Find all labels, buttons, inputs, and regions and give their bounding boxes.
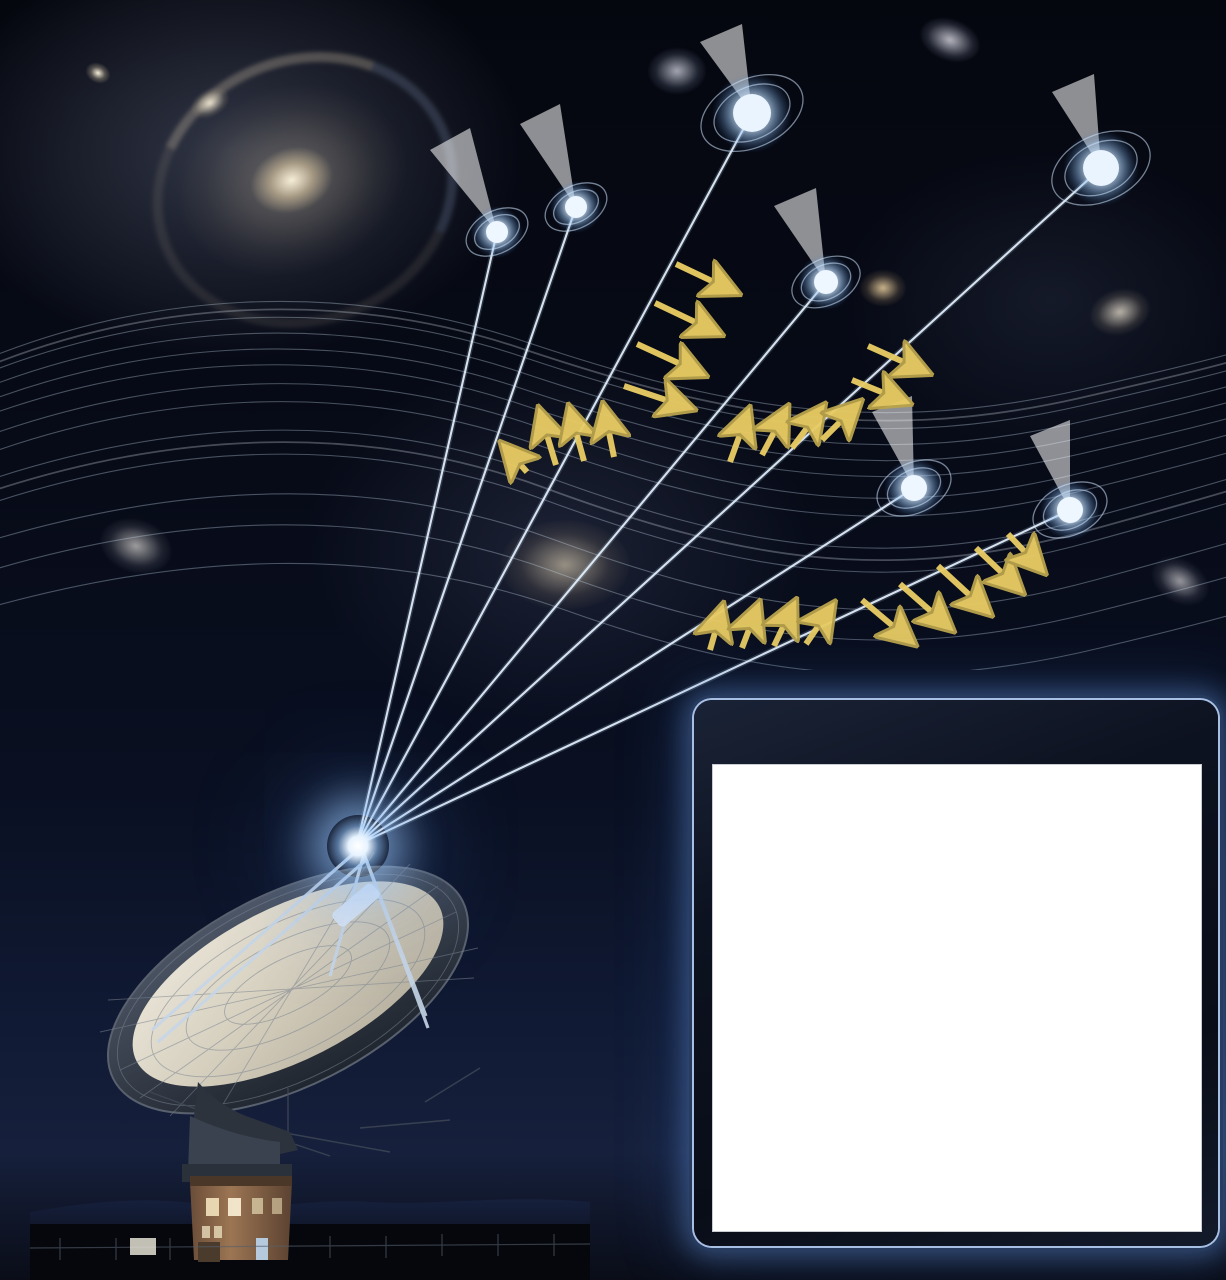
constraint-figure (713, 765, 1201, 1231)
illustration-canvas (0, 0, 1226, 1280)
polarization-arrows (504, 264, 1042, 650)
inset-figure-panel (694, 700, 1218, 1246)
telescope-focus-glow (327, 815, 389, 877)
parkes-radio-telescope (30, 820, 590, 1280)
telescope-tower (190, 1176, 292, 1262)
figure-plot-area (712, 764, 1202, 1232)
